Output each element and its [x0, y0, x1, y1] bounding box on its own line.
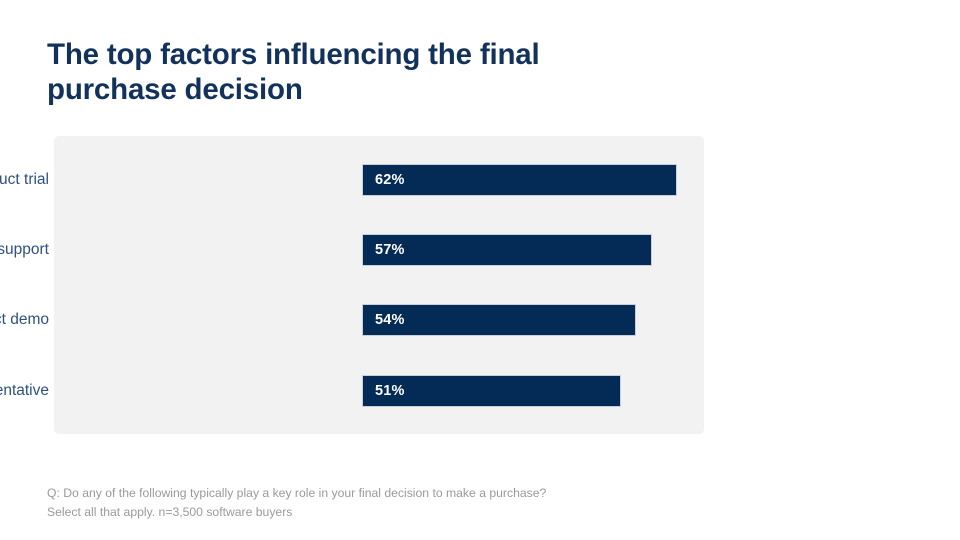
bar-category-label: The vendor’s sales representative	[0, 382, 49, 400]
page-title: The top factors influencing the final pu…	[47, 37, 687, 107]
bar-track: 62%	[363, 165, 676, 195]
bar-fill: 57%	[363, 235, 651, 265]
bar-chart-panel: Product trial 62% Vendor customer suppor…	[54, 136, 704, 434]
bar-fill: 51%	[363, 376, 620, 406]
bar-track: 57%	[363, 235, 651, 265]
bar-row: Product demo 54%	[54, 305, 704, 335]
bar-category-label: Product trial	[0, 171, 49, 189]
bar-value-label: 54%	[375, 312, 405, 328]
bar-value-label: 62%	[375, 172, 405, 188]
bar-row: Vendor customer support 57%	[54, 235, 704, 265]
bar-value-label: 51%	[375, 383, 405, 399]
bar-track: 54%	[363, 305, 635, 335]
bar-category-label: Vendor customer support	[0, 241, 49, 259]
bar-fill: 62%	[363, 165, 676, 195]
chart-footnote: Q: Do any of the following typically pla…	[47, 484, 567, 522]
bar-row: The vendor’s sales representative 51%	[54, 376, 704, 406]
bar-track: 51%	[363, 376, 620, 406]
bar-value-label: 57%	[375, 242, 405, 258]
bar-row: Product trial 62%	[54, 165, 704, 195]
bar-category-label: Product demo	[0, 311, 49, 329]
bar-fill: 54%	[363, 305, 635, 335]
slide-canvas: The top factors influencing the final pu…	[0, 0, 960, 540]
